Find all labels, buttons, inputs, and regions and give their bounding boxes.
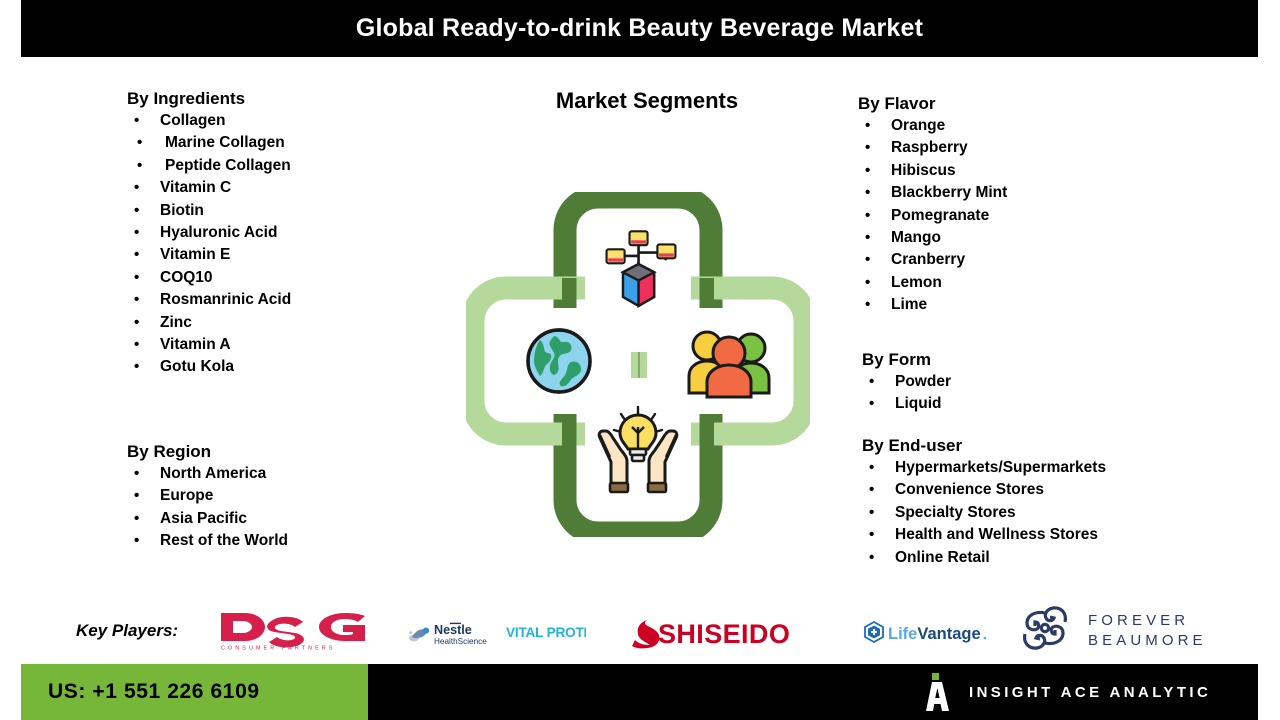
list-item-label: Lime — [891, 296, 927, 313]
bullet-icon: • — [134, 334, 139, 356]
list-item-label: Lemon — [891, 274, 942, 291]
list-item-label: Collagen — [160, 112, 225, 129]
segment-flavor-title: By Flavor — [858, 94, 1007, 114]
bullet-icon: • — [865, 182, 870, 204]
list-item-label: Liquid — [895, 395, 942, 412]
list-item-sublist-wrapper: •Marine Collagen •Peptide Collagen — [127, 132, 291, 177]
segment-region: By Region •North America •Europe •Asia P… — [127, 442, 288, 553]
list-item-label: Biotin — [160, 202, 204, 219]
bullet-icon: • — [869, 479, 874, 501]
list-item: •Powder — [862, 371, 951, 393]
list-item: •Raspberry — [858, 137, 1007, 159]
bullet-icon: • — [134, 508, 139, 530]
shiseido-logo-text: SHISEIDO — [658, 619, 790, 649]
bullet-icon: • — [865, 249, 870, 271]
segment-enduser: By End-user •Hypermarkets/Supermarkets •… — [862, 436, 1106, 569]
list-item-label: Vitamin A — [160, 336, 231, 353]
list-item-label: Online Retail — [895, 549, 990, 566]
list-item-label: Powder — [895, 373, 951, 390]
bullet-icon: • — [134, 485, 139, 507]
page-title: Global Ready-to-drink Beauty Beverage Ma… — [356, 14, 923, 43]
segment-region-list: •North America •Europe •Asia Pacific •Re… — [127, 463, 288, 553]
list-item-label: Mango — [891, 229, 941, 246]
bullet-icon: • — [134, 530, 139, 552]
nestle-vital-proteins-logos: Nestle HealthScience VITAL PROTEINS — [406, 621, 586, 649]
list-item: •Specialty Stores — [862, 502, 1106, 524]
list-item: •Cranberry — [858, 249, 1007, 271]
list-item-label: North America — [160, 465, 266, 482]
bullet-icon: • — [869, 371, 874, 393]
list-item: •COQ10 — [127, 267, 291, 289]
list-item: •Vitamin C — [127, 177, 291, 199]
bullet-icon: • — [134, 110, 139, 132]
list-item: •Rosmanrinic Acid — [127, 289, 291, 311]
list-item-label: Vitamin C — [160, 179, 231, 196]
footer-brand: INSIGHT ACE ANALYTIC — [925, 664, 1211, 720]
segment-region-title: By Region — [127, 442, 288, 462]
list-item: •Convenience Stores — [862, 479, 1106, 501]
list-item-label: Cranberry — [891, 251, 965, 268]
forever-beaumore-logo: FOREVER BEAUMORE — [1014, 605, 1236, 651]
list-item-label: Rosmanrinic Acid — [160, 291, 291, 308]
segment-enduser-title: By End-user — [862, 436, 1106, 456]
list-item: •Collagen — [127, 110, 291, 132]
list-item-label: Specialty Stores — [895, 504, 1016, 521]
bullet-icon: • — [137, 132, 142, 154]
bullet-icon: • — [869, 502, 874, 524]
nestle-logo-subtext: HealthScience — [434, 637, 487, 646]
list-item-label: Health and Wellness Stores — [895, 526, 1098, 543]
forever-beaumore-mark-icon — [1025, 608, 1066, 648]
list-item: •Gotu Kola — [127, 356, 291, 378]
bullet-icon: • — [869, 393, 874, 415]
list-item-label: Hyaluronic Acid — [160, 224, 277, 241]
list-item: •Zinc — [127, 312, 291, 334]
bullet-icon: • — [137, 155, 142, 177]
bullet-icon: • — [134, 222, 139, 244]
bullet-icon: • — [865, 272, 870, 294]
bullet-icon: • — [134, 356, 139, 378]
vital-proteins-logo-text: VITAL PROTEINS — [506, 625, 586, 640]
list-item-label: Convenience Stores — [895, 481, 1044, 498]
list-item-label: Zinc — [160, 314, 192, 331]
infographic-page: Global Ready-to-drink Beauty Beverage Ma… — [0, 0, 1280, 720]
list-item: •Vitamin A — [127, 334, 291, 356]
people-group-icon — [689, 332, 769, 397]
list-item: •Liquid — [862, 393, 951, 415]
list-item: •Online Retail — [862, 547, 1106, 569]
bullet-icon: • — [134, 244, 139, 266]
list-item-label: COQ10 — [160, 269, 213, 286]
list-item: •Lime — [858, 294, 1007, 316]
nestle-bird-icon — [409, 628, 429, 642]
list-item: •Rest of the World — [127, 530, 288, 552]
list-item-label: Raspberry — [891, 139, 968, 156]
sub-list-item-label: Peptide Collagen — [165, 157, 291, 174]
list-item: •Health and Wellness Stores — [862, 524, 1106, 546]
segment-ingredients-title: By Ingredients — [127, 89, 291, 109]
bullet-icon: • — [134, 267, 139, 289]
footer-brand-text: INSIGHT ACE ANALYTIC — [969, 684, 1211, 701]
lifevantage-logo: LifeVantage — [861, 620, 997, 648]
segment-form-title: By Form — [862, 350, 951, 370]
forever-beaumore-line2: BEAUMORE — [1088, 632, 1207, 649]
bullet-icon: • — [865, 294, 870, 316]
forever-beaumore-line1: FOREVER — [1088, 612, 1189, 629]
list-item: •Orange — [858, 115, 1007, 137]
lifevantage-hexagon-plus-icon — [865, 622, 883, 642]
list-item: •Europe — [127, 485, 288, 507]
list-item-label: Vitamin E — [160, 246, 230, 263]
sub-list-item-label: Marine Collagen — [165, 134, 285, 151]
dsg-logo-subtext: CONSUMER PARTNERS — [221, 646, 336, 652]
list-item-label: Europe — [160, 487, 213, 504]
bullet-icon: • — [134, 463, 139, 485]
list-item-label: Hibiscus — [891, 162, 956, 179]
sub-list-item: •Peptide Collagen — [127, 155, 291, 177]
bullet-icon: • — [869, 524, 874, 546]
segment-ingredients: By Ingredients •Collagen •Marine Collage… — [127, 89, 291, 379]
list-item-label: Asia Pacific — [160, 510, 247, 527]
list-item: •Vitamin E — [127, 244, 291, 266]
bullet-icon: • — [865, 115, 870, 137]
center-section-title-text: Market Segments — [556, 88, 738, 113]
list-item: •Asia Pacific — [127, 508, 288, 530]
list-item-label: Blackberry Mint — [891, 184, 1007, 201]
market-segments-interlocking-graphic — [466, 192, 810, 537]
list-item: •Blackberry Mint — [858, 182, 1007, 204]
bullet-icon: • — [865, 205, 870, 227]
bullet-icon: • — [134, 200, 139, 222]
bullet-icon: • — [865, 227, 870, 249]
bullet-icon: • — [134, 177, 139, 199]
key-players-label: Key Players: — [76, 621, 178, 641]
segment-ingredients-list: •Collagen •Marine Collagen •Peptide Coll… — [127, 110, 291, 379]
list-item: •Lemon — [858, 272, 1007, 294]
bullet-icon: • — [869, 547, 874, 569]
bullet-icon: • — [869, 457, 874, 479]
sub-list-item: •Marine Collagen — [127, 132, 291, 154]
list-item: •Hypermarkets/Supermarkets — [862, 457, 1106, 479]
nestle-logo-text: Nestle — [434, 623, 472, 637]
segment-ingredients-sublist: •Marine Collagen •Peptide Collagen — [127, 132, 291, 177]
list-item: •Biotin — [127, 200, 291, 222]
list-item: •Mango — [858, 227, 1007, 249]
dsg-consumer-partners-logo: CONSUMER PARTNERS — [219, 611, 367, 651]
header-bar: Global Ready-to-drink Beauty Beverage Ma… — [21, 0, 1258, 57]
segment-form-list: •Powder •Liquid — [862, 371, 951, 416]
bullet-icon: • — [134, 289, 139, 311]
segment-form: By Form •Powder •Liquid — [862, 350, 951, 416]
list-item: •North America — [127, 463, 288, 485]
footer-phone-text: US: +1 551 226 6109 — [21, 680, 260, 704]
list-item-label: Rest of the World — [160, 532, 288, 549]
insight-ace-a-logo-icon — [925, 673, 951, 711]
bullet-icon: • — [865, 137, 870, 159]
footer-phone-panel: US: +1 551 226 6109 — [21, 664, 368, 720]
segment-enduser-list: •Hypermarkets/Supermarkets •Convenience … — [862, 457, 1106, 569]
list-item: •Hyaluronic Acid — [127, 222, 291, 244]
list-item-label: Hypermarkets/Supermarkets — [895, 459, 1106, 476]
list-item-label: Orange — [891, 117, 945, 134]
globe-icon — [528, 330, 590, 392]
svg-text:LifeVantage: LifeVantage — [888, 625, 981, 643]
segment-flavor: By Flavor •Orange •Raspberry •Hibiscus •… — [858, 94, 1007, 317]
list-item-label: Pomegranate — [891, 207, 989, 224]
shiseido-logo: SHISEIDO — [632, 615, 812, 649]
bullet-icon: • — [134, 312, 139, 334]
bullet-icon: • — [865, 160, 870, 182]
list-item: •Hibiscus — [858, 160, 1007, 182]
list-item-label: Gotu Kola — [160, 358, 234, 375]
segment-flavor-list: •Orange •Raspberry •Hibiscus •Blackberry… — [858, 115, 1007, 317]
list-item: •Pomegranate — [858, 205, 1007, 227]
